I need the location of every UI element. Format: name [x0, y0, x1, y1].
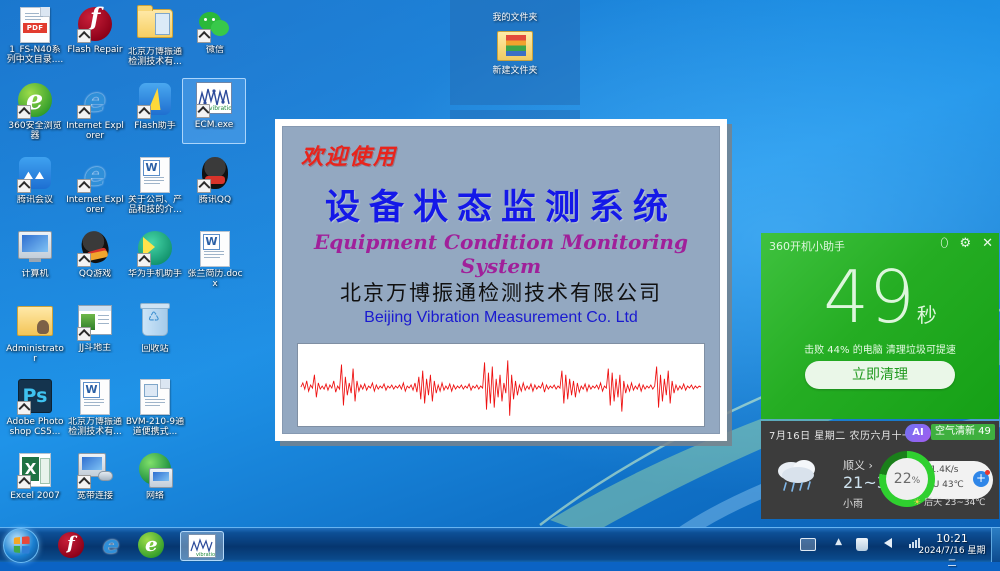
clock-time: 10:21 [916, 532, 988, 545]
taskbar[interactable]: f e e vibration ▲ [0, 527, 1000, 562]
show-hidden-icons-arrow[interactable]: ▲ [835, 538, 842, 547]
desktop-icon-label: 腾讯会议 [4, 195, 66, 205]
windows-flag-icon [14, 536, 30, 554]
desktop-icon-company-intro-doc[interactable]: W 关于公司、产品和技的介... [124, 154, 186, 218]
company-name-chinese: 北京万博振通检测技术有限公司 [283, 277, 719, 307]
clock-date: 2024/7/16 星期二 [916, 545, 988, 571]
show-desktop-button[interactable] [991, 528, 1000, 562]
desktop-icon-label: Internet Explorer [64, 121, 126, 141]
desktop-icon-label: 360安全浏览器 [4, 121, 66, 141]
desktop-icon-tencent-meeting[interactable]: 腾讯会议 [4, 154, 66, 218]
weather-location[interactable]: 顺义 › [843, 457, 873, 473]
network-icon [137, 453, 173, 489]
desktop-icon-label: Internet Explorer [64, 195, 126, 215]
splash-inner-panel: 欢迎使用 设备状态监测系统 Equipment Condition Monito… [282, 126, 720, 434]
desktop-icon-label: 1_FS-N40系列中文目录.... [4, 45, 66, 65]
boot-time-number: 49 [823, 255, 915, 339]
start-button[interactable] [3, 528, 39, 563]
company-name-english: Beijing Vibration Measurement Co. Ltd [283, 309, 719, 327]
internet-explorer-icon: e [77, 157, 113, 193]
close-icon[interactable]: ✕ [982, 237, 993, 250]
jj-landlord-icon [77, 305, 113, 341]
flash-assistant-icon [137, 83, 173, 119]
taskbar-360-browser-icon[interactable]: e [138, 532, 164, 558]
desktop-icon-label: 北京万博振通检测技术有... [124, 47, 186, 67]
desktop-icon-label: Excel 2007 [4, 491, 66, 501]
folder-window-panel[interactable]: 我的文件夹 新建文件夹 [450, 0, 580, 105]
desktop-icon-label: 华为手机助手 [124, 269, 186, 279]
network-speed-value: 1.4K/s [931, 465, 959, 475]
color-folder-icon [497, 31, 533, 61]
desktop-icon-bvm-210-doc[interactable]: BVM-210-9通道便携式... [124, 376, 186, 440]
360-boot-assistant-widget[interactable]: 360开机小助手 ⬯ ⚙ ✕ 49秒 击败 44% 的电脑 清理垃圾可提速 立即… [761, 233, 999, 419]
taskbar-clock[interactable]: 10:21 2024/7/16 星期二 [916, 532, 988, 571]
recycle-bin-icon: ♺ [137, 306, 173, 342]
memory-usage-value: 22% [886, 458, 928, 500]
qq-games-icon [77, 231, 113, 267]
desktop-icon-label: Flash助手 [124, 121, 186, 131]
desktop-icon-recycle-bin[interactable]: ♺ 回收站 [124, 302, 186, 366]
excel-icon: X [17, 453, 53, 489]
desktop-icon-label: 张兰简历.docx [184, 269, 246, 289]
desktop-icon-label: 计算机 [4, 269, 66, 279]
desktop-icon-label: Flash Repair [64, 45, 126, 55]
internet-explorer-icon: e [77, 83, 113, 119]
clean-now-button[interactable]: 立即清理 [805, 361, 955, 389]
desktop-icon-bvm-folder[interactable]: 北京万博振通检测技术有... [124, 4, 186, 68]
add-button[interactable]: + [973, 471, 989, 487]
desktop-icon-flash-repair[interactable]: f Flash Repair [64, 4, 126, 68]
action-center-icon[interactable] [856, 538, 868, 551]
huawei-assistant-icon [137, 231, 173, 267]
folder-window-title: 我的文件夹 [450, 0, 580, 23]
broadband-connection-icon [77, 453, 113, 489]
desktop-icon-bvm-word-doc[interactable]: W 北京万博振通检测技术有... [64, 376, 126, 440]
user-folder-icon [17, 306, 53, 342]
memory-percent-number: 22 [894, 471, 912, 487]
desktop-icon-wechat[interactable]: 微信 [184, 4, 246, 68]
desktop-icon-label: Adobe Photoshop CS5... [4, 417, 66, 437]
desktop-icon-label: ECM.exe [183, 120, 245, 130]
desktop-icon-label: QQ游戏 [64, 269, 126, 279]
widget-header: 360开机小助手 ⬯ ⚙ ✕ [761, 233, 999, 257]
app-title-chinese: 设备状态监测系统 [283, 179, 719, 230]
widget-header-icons: ⬯ ⚙ ✕ [940, 237, 993, 250]
folder-list-item[interactable]: 新建文件夹 [450, 31, 580, 76]
desktop-icon-excel-2007[interactable]: X Excel 2007 [4, 450, 66, 514]
desktop-icon-label: 微信 [184, 45, 246, 55]
word-document-icon: W [137, 157, 173, 193]
pdf-document-icon: PDF [17, 7, 53, 43]
desktop-icon-broadband-connection[interactable]: 宽带连接 [64, 450, 126, 514]
forecast-value: 后天 23~34℃ [924, 498, 985, 508]
widget-title: 360开机小助手 [769, 238, 845, 254]
taskbar-item-ecm[interactable]: vibration [180, 531, 224, 561]
splash-window[interactable]: 欢迎使用 设备状态监测系统 Equipment Condition Monito… [275, 119, 727, 441]
memory-percent-unit: % [912, 476, 921, 486]
desktop-icon-flash-assistant[interactable]: Flash助手 [124, 80, 186, 144]
desktop-icon-label: 网络 [124, 491, 186, 501]
desktop-icon-label: 回收站 [124, 344, 186, 354]
taskbar-internet-explorer-icon[interactable]: e [98, 532, 124, 558]
wechat-icon [197, 7, 233, 43]
chevron-right-icon: › [869, 459, 873, 472]
sun-icon: ☀ [913, 498, 921, 508]
desktop-icon-jj-landlord[interactable]: JJ斗地主 [64, 302, 126, 366]
boot-time-value: 49秒 [761, 261, 999, 351]
taskbar-flash-player-icon[interactable]: f [58, 532, 84, 558]
volume-icon[interactable] [884, 538, 892, 548]
weather-location-label: 顺义 [843, 459, 865, 472]
flash-repair-icon: f [77, 7, 113, 43]
desktop-background: PDF 1_FS-N40系列中文目录.... f Flash Repair 北京… [0, 0, 1000, 562]
app-title-english: Equipment Condition Monitoring System [283, 230, 719, 278]
desktop-icon-network[interactable]: 网络 [124, 450, 186, 514]
desktop-icon-tencent-qq[interactable]: 腾讯QQ [184, 154, 246, 218]
word-document-icon: W [77, 379, 113, 415]
desktop-icon-label: 北京万博振通检测技术有... [64, 417, 126, 437]
desktop-icon-qq-games[interactable]: QQ游戏 [64, 228, 126, 292]
radio-icon[interactable] [800, 538, 816, 551]
desktop-icon-photoshop[interactable]: Ps Adobe Photoshop CS5... [4, 376, 66, 440]
air-quality-badge: 空气清新 49 [931, 424, 995, 440]
shirt-icon[interactable]: ⬯ [940, 237, 948, 250]
desktop-icon-label: Administrator [4, 344, 66, 364]
vibration-waveform-plot [297, 343, 705, 427]
tencent-meeting-icon [17, 157, 53, 193]
rain-cloud-icon [771, 453, 827, 495]
desktop-icon-administrator[interactable]: Administrator [4, 302, 66, 366]
photoshop-icon: Ps [17, 379, 53, 415]
qq-penguin-icon [197, 157, 233, 193]
folder-item-label: 新建文件夹 [492, 66, 537, 76]
weather-condition: 小雨 [843, 495, 863, 510]
desktop-icon-label: 腾讯QQ [184, 195, 246, 205]
desktop-icon-label: 关于公司、产品和技的介... [124, 195, 186, 215]
ai-badge[interactable]: AI [905, 424, 931, 442]
desktop-icon-label: 宽带连接 [64, 491, 126, 501]
ecm-waveform-icon: vibration [196, 82, 232, 118]
desktop-icon-360-browser[interactable]: e 360安全浏览器 [4, 80, 66, 144]
forecast-text: ☀后天 23~34℃ [913, 495, 986, 508]
desktop-icon-pdf-catalog[interactable]: PDF 1_FS-N40系列中文目录.... [4, 4, 66, 68]
computer-icon [17, 231, 53, 267]
weather-status-widget[interactable]: 7月16日 星期二 农历六月十一 AI 空气清新 49 顺义 › 21~31 小… [761, 421, 999, 519]
desktop-icon-label: JJ斗地主 [64, 343, 126, 353]
document-icon [137, 379, 173, 415]
word-document-icon: W [197, 231, 233, 267]
360-browser-icon: e [17, 83, 53, 119]
welcome-text: 欢迎使用 [301, 139, 397, 171]
svg-text:vibration: vibration [196, 552, 215, 557]
gear-icon[interactable]: ⚙ [959, 237, 971, 250]
desktop-icon-label: BVM-210-9通道便携式... [124, 417, 186, 437]
desktop-icon-computer[interactable]: 计算机 [4, 228, 66, 292]
desktop-icon-zhanglan-resume[interactable]: W 张兰简历.docx [184, 228, 246, 292]
desktop-icon-ecm-exe[interactable]: vibration ECM.exe [182, 78, 246, 144]
desktop-icon-internet-explorer-2[interactable]: e Internet Explorer [64, 154, 126, 218]
boot-time-unit: 秒 [917, 303, 937, 327]
folder-icon [137, 9, 173, 45]
desktop-icon-internet-explorer-1[interactable]: e Internet Explorer [64, 80, 126, 144]
boot-time-subtext: 击败 44% 的电脑 清理垃圾可提速 [761, 341, 999, 356]
date-text: 7月16日 星期二 农历六月十一 [769, 427, 912, 442]
svg-text:vibration: vibration [209, 105, 231, 112]
desktop-icon-huawei-assistant[interactable]: 华为手机助手 [124, 228, 186, 292]
